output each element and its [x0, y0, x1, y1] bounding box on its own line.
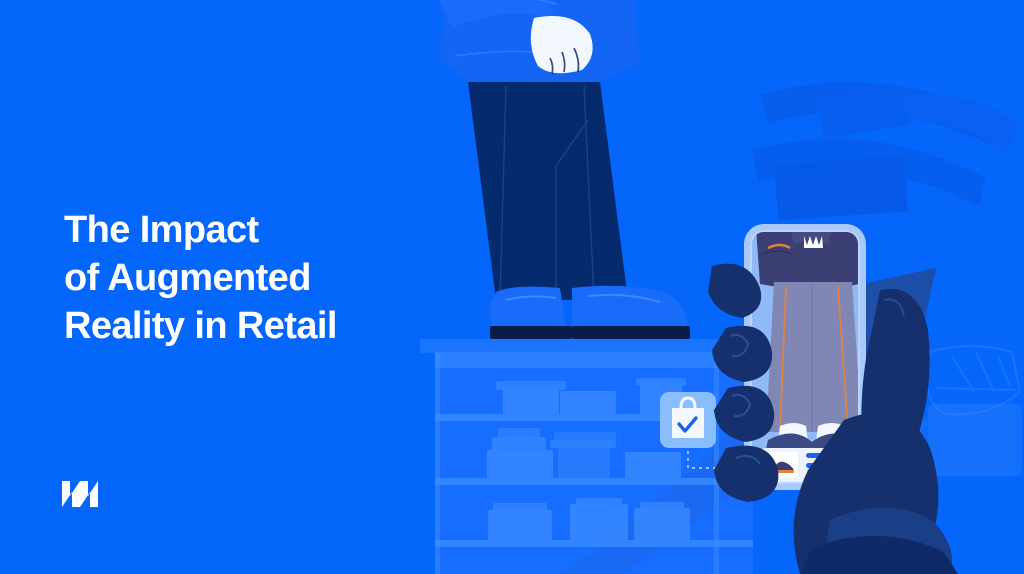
shoe-sole-right	[572, 326, 690, 339]
person-shoes	[490, 286, 690, 339]
shelf-boxes-row-3	[488, 498, 690, 540]
shoe-sole-left	[490, 326, 572, 339]
shoe-shelving-unit	[435, 352, 753, 574]
floor-band	[420, 339, 760, 353]
shelf-valance	[435, 352, 753, 368]
zigzag-m-monogram-logo[interactable]	[62, 481, 98, 507]
shopping-bag-check-badge	[660, 392, 716, 448]
logo-zigzag-path	[62, 481, 98, 507]
person-skirt	[468, 82, 628, 300]
article-hero-banner: The Impact of Augmented Reality in Retai…	[0, 0, 1024, 574]
page-title: The Impact of Augmented Reality in Retai…	[64, 206, 404, 350]
shopping-bag-icon	[672, 408, 704, 438]
